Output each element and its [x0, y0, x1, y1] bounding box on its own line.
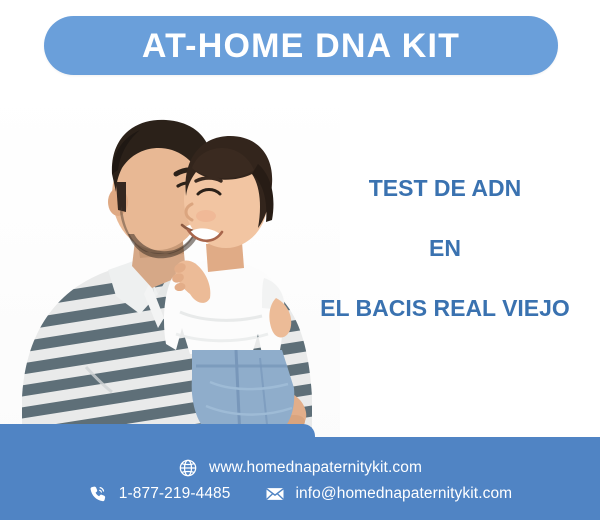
footer-row-website: www.homednapaternitykit.com [0, 458, 600, 478]
email-label: info@homednapaternitykit.com [296, 485, 513, 503]
promo-poster: AT-HOME DNA KIT [0, 0, 600, 520]
footer-row-phone-email: 1-877-219-4485 info@homednapaternitykit.… [0, 484, 600, 504]
footer-contact-bar: www.homednapaternitykit.com 1-877-219-44… [0, 437, 600, 520]
website-item[interactable]: www.homednapaternitykit.com [178, 458, 422, 478]
headline-line-connector: EN [300, 218, 590, 278]
header-banner: AT-HOME DNA KIT [44, 16, 558, 75]
headline-line-service: TEST DE ADN [300, 158, 590, 218]
footer-rows: www.homednapaternitykit.com 1-877-219-44… [0, 437, 600, 520]
globe-icon [178, 458, 198, 478]
phone-icon [88, 484, 108, 504]
phone-item[interactable]: 1-877-219-4485 [88, 484, 231, 504]
phone-label: 1-877-219-4485 [119, 485, 231, 503]
father-and-child-photo [0, 82, 340, 457]
email-item[interactable]: info@homednapaternitykit.com [265, 484, 513, 504]
footer-notch [0, 424, 315, 438]
headline-line-location: EL BACIS REAL VIEJO [300, 278, 590, 338]
header-title: AT-HOME DNA KIT [142, 29, 460, 63]
envelope-icon [265, 484, 285, 504]
headline-block: TEST DE ADN EN EL BACIS REAL VIEJO [300, 158, 590, 338]
website-label: www.homednapaternitykit.com [209, 459, 422, 477]
